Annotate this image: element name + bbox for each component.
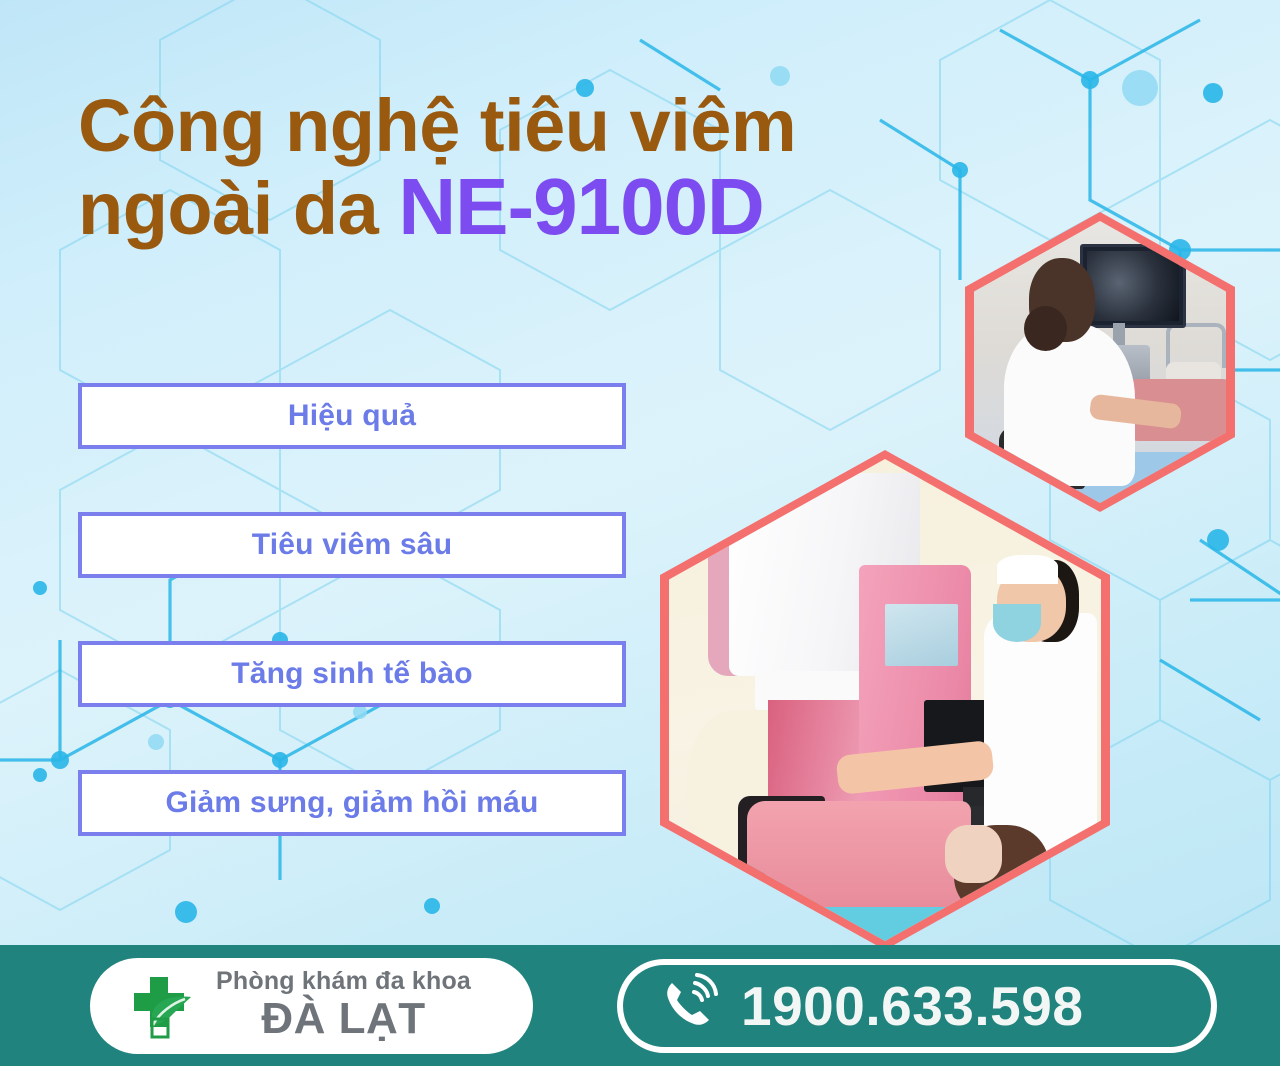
feature-label: Hiệu quả (288, 399, 416, 433)
product-model-name: NE-9100D (398, 162, 764, 251)
phone-cta[interactable]: 1900.633.598 (617, 959, 1217, 1053)
ringing-phone-icon (657, 973, 719, 1040)
feature-label: Giảm sưng, giảm hồi máu (165, 786, 538, 820)
promo-banner: Công nghệ tiêu viêm ngoài da NE-9100D Hi… (0, 0, 1280, 1066)
green-cross-leaf-icon (112, 969, 208, 1043)
headline: Công nghệ tiêu viêm ngoài da NE-9100D (78, 88, 1008, 248)
headline-line-2-prefix: ngoài da (78, 167, 378, 250)
headline-line-2: ngoài da NE-9100D (78, 165, 1008, 248)
ultrasound-room-scene (974, 221, 1226, 503)
ultrasound-photo-frame (974, 221, 1226, 503)
feature-item-1[interactable]: Hiệu quả (78, 383, 626, 449)
feature-list: Hiệu quả Tiêu viêm sâu Tăng sinh tế bào … (78, 383, 626, 836)
feature-label: Tăng sinh tế bào (231, 657, 473, 691)
clinic-name-block: Phòng khám đa khoa ĐÀ LẠT (216, 969, 471, 1042)
clinic-name: ĐÀ LẠT (216, 996, 471, 1042)
footer-bar: Phòng khám đa khoa ĐÀ LẠT 1900.633.598 (0, 945, 1280, 1066)
clinic-subtitle: Phòng khám đa khoa (216, 969, 471, 994)
feature-label: Tiêu viêm sâu (252, 528, 452, 562)
headline-line-1: Công nghệ tiêu viêm (78, 88, 1008, 165)
feature-item-4[interactable]: Giảm sưng, giảm hồi máu (78, 770, 626, 836)
feature-item-3[interactable]: Tăng sinh tế bào (78, 641, 626, 707)
phone-number: 1900.633.598 (741, 974, 1083, 1038)
clinic-logo-pill[interactable]: Phòng khám đa khoa ĐÀ LẠT (90, 958, 533, 1054)
feature-item-2[interactable]: Tiêu viêm sâu (78, 512, 626, 578)
